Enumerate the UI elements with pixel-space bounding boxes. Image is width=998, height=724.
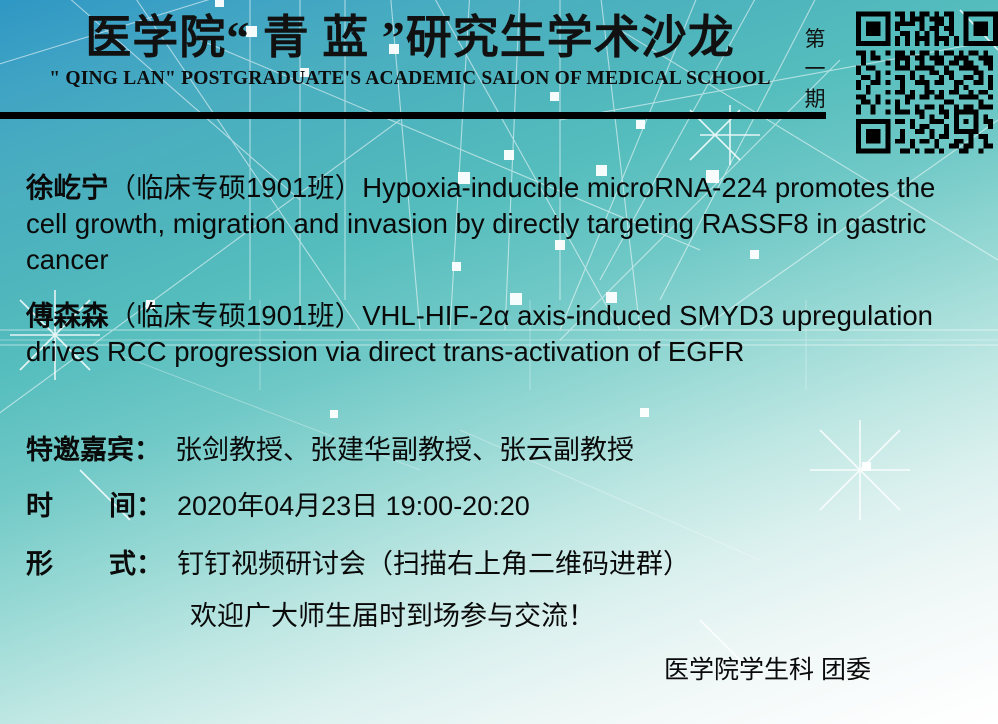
format-row: 形式：钉钉视频研讨会（扫描右上角二维码进群） — [26, 542, 690, 581]
time-label-second: 间： — [109, 491, 163, 521]
header-divider-rule — [0, 112, 826, 119]
format-welcome-note: 欢迎广大师生届时到场参与交流！ — [190, 594, 595, 633]
talk-entry: 徐屹宁（临床专硕1901班）Hypoxia-inducible microRNA… — [26, 170, 972, 278]
format-value: 钉钉视频研讨会（扫描右上角二维码进群） — [177, 549, 690, 579]
page-title-en: " QING LAN" POSTGRADUATE'S ACADEMIC SALO… — [0, 67, 820, 91]
talk-speaker-name: 傅森森 — [26, 300, 109, 331]
format-label-second: 式： — [109, 549, 163, 579]
title-block: 医学院“ 青 蓝 ”研究生学术沙龙 " QING LAN" POSTGRADUA… — [0, 10, 820, 91]
talk-speaker-affiliation: （临床专硕1901班） — [109, 300, 363, 331]
poster-body: 徐屹宁（临床专硕1901班）Hypoxia-inducible microRNA… — [0, 122, 998, 724]
organizer-footer: 医学院学生科 团委 — [664, 650, 871, 686]
issue-number-vertical: 第 一 期 — [800, 24, 830, 114]
issue-char-period: 期 — [800, 84, 830, 114]
poster-canvas: 医学院“ 青 蓝 ”研究生学术沙龙 " QING LAN" POSTGRADUA… — [0, 0, 998, 724]
time-label-first: 时 — [26, 491, 53, 521]
talk-speaker-affiliation: （临床专硕1901班） — [109, 172, 363, 203]
format-label-first: 形 — [26, 549, 53, 579]
guests-row: 特邀嘉宾：张剑教授、张建华副教授、张云副教授 — [26, 428, 634, 467]
guests-label: 特邀嘉宾： — [26, 435, 161, 465]
poster-header: 医学院“ 青 蓝 ”研究生学术沙龙 " QING LAN" POSTGRADUA… — [0, 0, 998, 122]
issue-char-one: 一 — [800, 54, 830, 84]
talk-entry: 傅森森（临床专硕1901班）VHL-HIF-2α axis-induced SM… — [26, 298, 972, 370]
page-title-cn: 医学院“ 青 蓝 ”研究生学术沙龙 — [0, 10, 820, 66]
guests-value: 张剑教授、张建华副教授、张云副教授 — [175, 435, 634, 465]
issue-char-first: 第 — [800, 24, 830, 54]
talk-speaker-name: 徐屹宁 — [26, 172, 109, 203]
time-value: 2020年04月23日 19:00-20:20 — [177, 491, 530, 521]
time-row: 时间：2020年04月23日 19:00-20:20 — [26, 484, 530, 523]
